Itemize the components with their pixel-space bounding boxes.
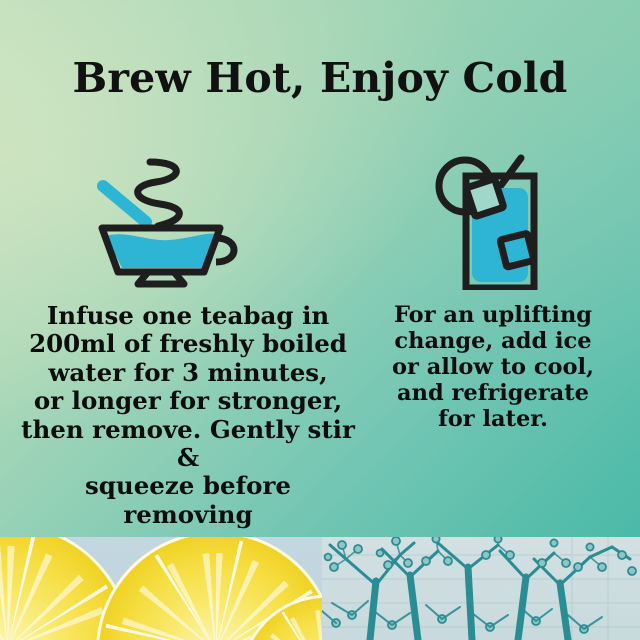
lemon-slices-photo [0, 537, 322, 640]
cup-liquid [106, 234, 216, 268]
teacup-icon-svg [88, 150, 288, 290]
fennel-plant-drawing [322, 537, 640, 640]
page-title: Brew Hot, Enjoy Cold [0, 58, 640, 99]
ice-cube-icon-2 [500, 233, 534, 267]
teacup-with-steam-icon [18, 150, 358, 290]
fennel-botanical-illustration [322, 537, 640, 640]
instruction-text-cold-serve: For an uplifting change, add ice or allo… [368, 302, 618, 432]
instruction-text-hot-brew: Infuse one teabag in 200ml of freshly bo… [18, 302, 358, 529]
bottom-photo-strip [0, 537, 640, 640]
iced-drink-glass-icon [368, 150, 618, 290]
ice-cube-icon-1 [466, 179, 504, 217]
poster-canvas: Brew Hot, Enjoy Cold Infuse one teabag i… [0, 0, 640, 640]
iced-glass-icon-svg [418, 150, 568, 290]
instruction-column-cold-serve: For an uplifting change, add ice or allo… [368, 150, 618, 432]
instruction-column-hot-brew: Infuse one teabag in 200ml of freshly bo… [18, 150, 358, 529]
